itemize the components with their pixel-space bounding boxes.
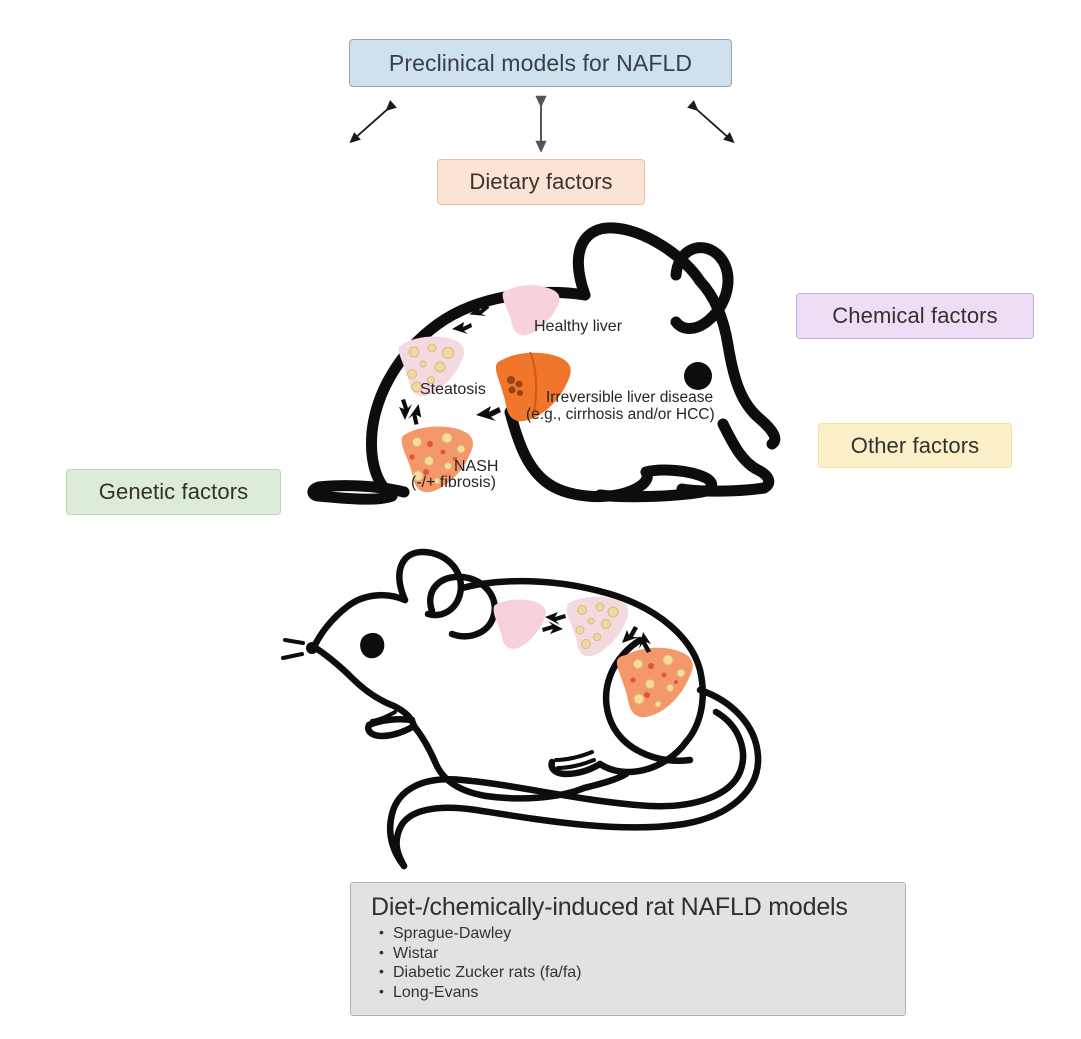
list-item: Wistar (393, 944, 891, 964)
rat-steatotic-liver (567, 597, 629, 656)
preclinical-models-title-box[interactable]: Preclinical models for NAFLD (349, 39, 732, 87)
list-item: Diabetic Zucker rats (fa/fa) (393, 963, 891, 983)
genetic-factors-box[interactable]: Genetic factors (66, 469, 281, 515)
label-irreversible-liver-disease: Irreversible liver disease (546, 389, 713, 407)
list-item: Long-Evans (393, 983, 891, 1003)
arrow-right-diagonal (694, 107, 730, 139)
rat-eye (360, 633, 384, 658)
dietary-factors-box[interactable]: Dietary factors (437, 159, 645, 205)
mouse-progression-arrows (399, 303, 501, 425)
label-nash-fibrosis-detail: (-/+ fibrosis) (411, 474, 496, 492)
diagram-canvas: Preclinical models for NAFLD Dietary fac… (0, 0, 1081, 1039)
list-item: Sprague-Dawley (393, 924, 891, 944)
rat-models-panel-title: Diet-/chemically-induced rat NAFLD model… (371, 893, 891, 922)
label-healthy-liver: Healthy liver (534, 318, 622, 336)
label-steatosis: Steatosis (420, 381, 486, 399)
chemical-factors-box[interactable]: Chemical factors (796, 293, 1034, 339)
mouse-eye (684, 362, 712, 390)
label-irreversible-liver-disease-detail: (e.g., cirrhosis and/or HCC) (526, 406, 715, 424)
arrow-left-diagonal (354, 107, 390, 139)
rat-healthy-liver (494, 600, 546, 649)
rat-models-list: Sprague-Dawley Wistar Diabetic Zucker ra… (371, 924, 891, 1002)
rat-nash-liver (617, 648, 693, 717)
other-factors-box[interactable]: Other factors (818, 423, 1012, 468)
rat-progression-arrows (542, 612, 651, 653)
rat-nafld-models-panel: Diet-/chemically-induced rat NAFLD model… (350, 882, 906, 1016)
rat-nose (306, 642, 318, 654)
